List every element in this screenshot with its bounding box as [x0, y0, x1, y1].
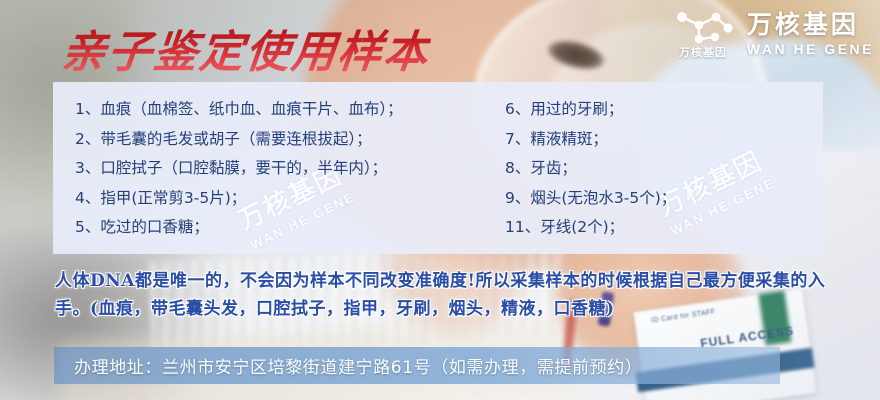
brand-logo: 万核基因 万核基因 WAN HE GENE	[669, 8, 874, 60]
list-item: 7、精液精斑；	[505, 128, 805, 152]
logo-name-cn: 万核基因	[747, 13, 874, 38]
page-title: 亲子鉴定使用样本	[59, 16, 434, 80]
sample-list-panel: 万核基因 WAN HE GENE 万核基因 WAN HE GENE	[53, 82, 823, 254]
list-item: 9、烟头(无泡水3-5个)；	[505, 187, 805, 211]
address-bar: 办理地址：兰州市安宁区培黎街道建宁路61号（如需办理，需提前预约）	[54, 347, 780, 384]
note-paragraph: 人体DNA都是唯一的，不会因为样本不同改变准确度!所以采集样本的时候根据自己最方…	[55, 268, 845, 323]
list-item: 4、指甲(正常剪3-5片)；	[75, 187, 505, 211]
list-item: 5、吃过的口香糖；	[75, 216, 505, 240]
address-text: 办理地址：兰州市安宁区培黎街道建宁路61号（如需办理，需提前预约）	[54, 353, 642, 378]
list-item: 2、带毛囊的毛发或胡子（需要连根拔起）；	[75, 128, 505, 152]
list-item: 8、牙齿；	[505, 157, 805, 181]
logo-mark-label: 万核基因	[669, 44, 737, 60]
list-item: 3、口腔拭子（口腔黏膜，要干的，半年内）；	[75, 157, 505, 181]
molecule-icon: 万核基因	[669, 8, 737, 60]
sample-list-right-column: 6、用过的牙刷； 7、精液精斑； 8、牙齿； 9、烟头(无泡水3-5个)； 11…	[505, 98, 805, 254]
list-item: 6、用过的牙刷；	[505, 98, 805, 122]
list-item: 1、血痕（血棉签、纸巾血、血痕干片、血布）；	[75, 98, 505, 122]
logo-name-en: WAN HE GENE	[747, 42, 874, 56]
sample-list-left-column: 1、血痕（血棉签、纸巾血、血痕干片、血布）； 2、带毛囊的毛发或胡子（需要连根拔…	[75, 98, 505, 254]
list-item: 11、牙线(2个)；	[505, 216, 805, 240]
logo-wordmark: 万核基因 WAN HE GENE	[747, 13, 874, 56]
